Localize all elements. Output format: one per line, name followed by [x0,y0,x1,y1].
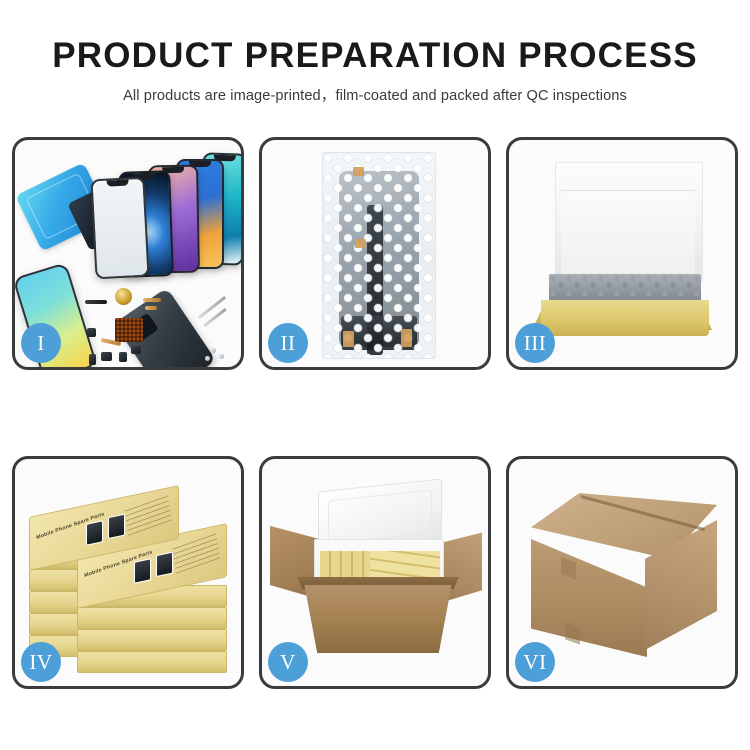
chip-part-d [131,346,141,354]
stacked-box [77,629,227,651]
chip-part-b [101,352,112,361]
step-panel-4: Mobile Phone Spare Parts Mobile Phone Sp… [12,456,244,689]
step-panel-2: II [259,137,491,370]
foam-lid-inner [561,190,695,279]
box-spec-lines [124,494,171,536]
chip-part-c [119,352,127,362]
step-panel-1: I [12,137,244,370]
box-product-thumbnail [108,514,125,540]
bubble-wrap-bag [322,152,436,359]
kraft-box-tray [541,300,709,336]
step-number-badge: VI [515,642,555,682]
box-product-thumbnail [156,552,173,578]
speaker-mesh-part [85,300,107,304]
page-title: PRODUCT PREPARATION PROCESS [0,38,750,75]
tape-piece-b [355,239,366,248]
phone-screen-white-blank [90,177,149,280]
chip-part-a [87,328,96,337]
tape-piece-d [401,329,412,347]
step-number-badge: IV [21,642,61,682]
stacked-box [77,651,227,673]
flex-cable-part-b [145,306,157,310]
process-steps-grid: I II III [12,137,738,689]
step-panel-5: V [259,456,491,689]
step-number-badge: V [268,642,308,682]
step-panel-3: III [506,137,738,370]
notch-icon [107,179,129,186]
carton-body [298,585,458,653]
box-product-thumbnail [134,558,151,584]
stacked-box [77,607,227,629]
carton-left-face [531,539,647,657]
box-product-thumbnail [86,520,103,546]
camera-ring-part [115,288,132,305]
step-number-badge: III [515,323,555,363]
box-spec-lines [172,532,219,574]
chip-part-e [89,354,96,365]
tape-piece-c [343,331,354,347]
flex-cable-part-a [143,298,161,302]
copper-mesh-part [115,318,143,342]
screw-part-a [211,348,216,353]
tape-piece-a [353,167,364,176]
page-header: PRODUCT PREPARATION PROCESS All products… [0,0,750,105]
kraft-box-stack: Mobile Phone Spare Parts Mobile Phone Sp… [23,477,235,675]
tweezers-icon [198,296,227,319]
step-number-badge: II [268,323,308,363]
screw-part-c [205,356,210,361]
page-subtitle: All products are image-printed，film-coat… [0,84,750,105]
step-number-badge: I [21,323,61,363]
screw-part-b [219,354,224,359]
step-panel-6: VI [506,456,738,689]
bubble-texture [323,153,435,358]
